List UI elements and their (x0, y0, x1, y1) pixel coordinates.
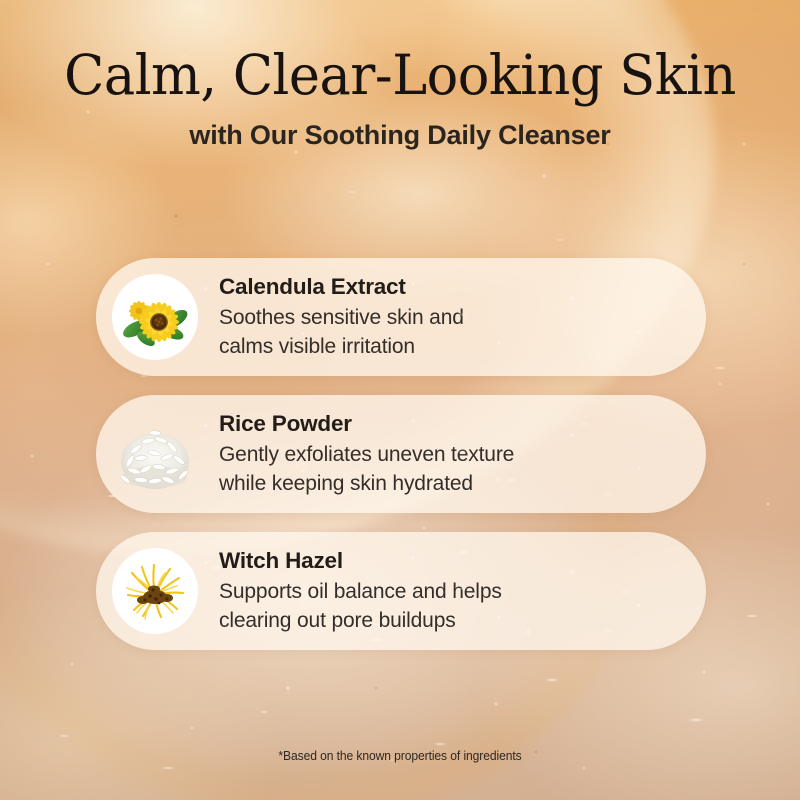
ingredient-description: Soothes sensitive skin and calms visible… (219, 303, 464, 362)
ingredient-card-rice-powder: Rice Powder Gently exfoliates uneven tex… (96, 395, 706, 513)
ingredient-title: Rice Powder (219, 410, 514, 438)
ingredient-text: Calendula Extract Soothes sensitive skin… (219, 273, 484, 362)
ingredient-card-witch-hazel: Witch Hazel Supports oil balance and hel… (96, 532, 706, 650)
page-subtitle: with Our Soothing Daily Cleanser (0, 118, 800, 152)
page-title: Calm, Clear-Looking Skin (18, 44, 782, 106)
marketing-graphic: Calm, Clear-Looking Skin with Our Soothi… (0, 0, 800, 800)
ingredient-title: Witch Hazel (219, 547, 502, 575)
witch-hazel-flower-icon (112, 548, 198, 634)
ingredient-card-list: Calendula Extract Soothes sensitive skin… (96, 258, 706, 669)
ingredient-title: Calendula Extract (219, 273, 464, 301)
ingredient-description: Supports oil balance and helps clearing … (219, 577, 502, 636)
ingredient-description: Gently exfoliates uneven texture while k… (219, 440, 514, 499)
ingredient-text: Witch Hazel Supports oil balance and hel… (219, 547, 522, 636)
rice-grains-icon (112, 411, 198, 497)
calendula-flower-icon (112, 274, 198, 360)
disclaimer-footnote: *Based on the known properties of ingred… (28, 747, 772, 765)
ingredient-text: Rice Powder Gently exfoliates uneven tex… (219, 410, 534, 499)
ingredient-card-calendula: Calendula Extract Soothes sensitive skin… (96, 258, 706, 376)
